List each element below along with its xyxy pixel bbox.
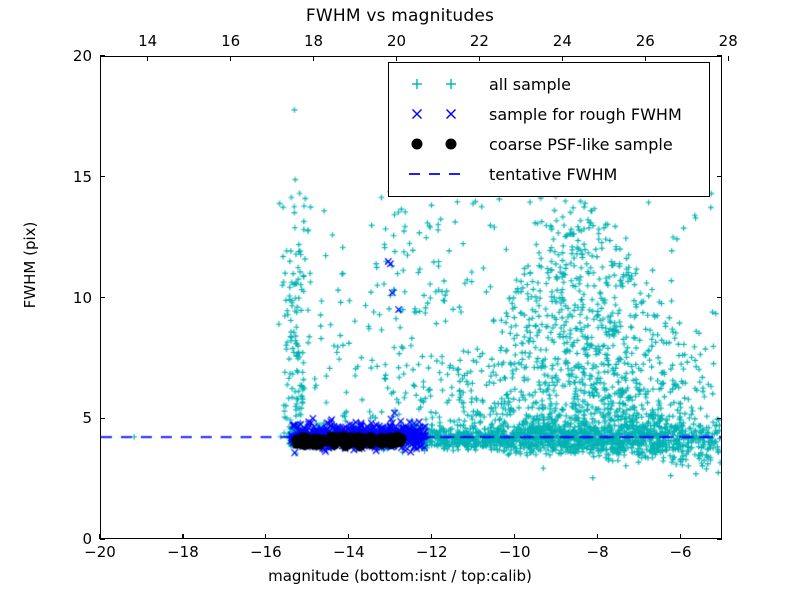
legend-entry-2: coarse PSF-like sample — [399, 129, 699, 159]
x-axis-tick-label-bottom: −12 — [416, 543, 448, 561]
y-axis-tick-label: 5 — [82, 409, 92, 427]
x-axis-tick-label-top: 28 — [719, 32, 738, 50]
legend-marker-cross-icon — [399, 99, 485, 129]
x-axis-tick-bottom — [348, 534, 349, 539]
chart-title: FWHM vs magnitudes — [0, 6, 800, 26]
x-axis-tick-label-top: 16 — [221, 32, 240, 50]
x-axis-tick-label-bottom: −10 — [499, 543, 531, 561]
x-axis-tick-top — [562, 56, 563, 61]
y-axis-tick-right — [717, 55, 722, 56]
legend-marker-plus-icon — [399, 69, 485, 99]
x-axis-tick-bottom — [597, 534, 598, 539]
x-axis-tick-bottom — [182, 534, 183, 539]
legend-label: tentative FWHM — [485, 165, 617, 184]
y-axis-tick-right — [717, 538, 722, 539]
legend-entry-3: tentative FWHM — [399, 159, 699, 189]
legend-label: coarse PSF-like sample — [485, 135, 673, 154]
x-axis-tick-label-bottom: −18 — [167, 543, 199, 561]
x-axis-tick-label-bottom: −16 — [250, 543, 282, 561]
x-axis-tick-bottom — [431, 534, 432, 539]
x-axis-tick-bottom — [680, 534, 681, 539]
x-axis-tick-label-bottom: −14 — [333, 543, 365, 561]
legend-marker-circle-icon — [399, 129, 485, 159]
x-axis-tick-top — [479, 56, 480, 61]
x-axis-tick-bottom — [265, 534, 266, 539]
x-axis-tick-label-top: 22 — [470, 32, 489, 50]
y-axis-label: FWHM (pix) — [21, 85, 39, 445]
x-axis-tick-label-top: 14 — [138, 32, 157, 50]
y-axis-tick — [100, 297, 105, 298]
y-axis-tick-label: 20 — [73, 47, 92, 65]
figure-canvas: FWHM vs magnitudes −20−18−16−14−12−10−8−… — [0, 0, 800, 600]
y-axis-tick-right — [717, 297, 722, 298]
x-axis-tick-top — [147, 56, 148, 61]
y-axis-tick — [100, 55, 105, 56]
y-axis-tick — [100, 176, 105, 177]
legend-entry-0: all sample — [399, 69, 699, 99]
x-axis-tick-top — [396, 56, 397, 61]
x-axis-tick-bottom — [514, 534, 515, 539]
x-axis-tick-label-top: 20 — [387, 32, 406, 50]
y-axis-tick-label: 0 — [82, 530, 92, 548]
y-axis-tick-label: 10 — [73, 289, 92, 307]
x-axis-tick-label-bottom: −6 — [669, 543, 691, 561]
x-axis-tick-label-bottom: −8 — [587, 543, 609, 561]
chart-legend: all samplesample for rough FWHMcoarse PS… — [388, 62, 710, 197]
legend-marker-dashed-icon — [399, 159, 485, 189]
x-axis-tick-top — [313, 56, 314, 61]
x-axis-tick-top — [645, 56, 646, 61]
x-axis-tick-top — [728, 56, 729, 61]
x-axis-tick-label-top: 24 — [553, 32, 572, 50]
legend-label: sample for rough FWHM — [485, 105, 682, 124]
y-axis-tick-right — [717, 418, 722, 419]
y-axis-tick — [100, 538, 105, 539]
x-axis-tick-top — [230, 56, 231, 61]
x-axis-tick-label-top: 26 — [636, 32, 655, 50]
y-axis-tick-right — [717, 176, 722, 177]
y-axis-tick-label: 15 — [73, 168, 92, 186]
y-axis-tick — [100, 418, 105, 419]
legend-entry-1: sample for rough FWHM — [399, 99, 699, 129]
legend-label: all sample — [485, 75, 571, 94]
x-axis-label: magnitude (bottom:isnt / top:calib) — [0, 567, 800, 585]
x-axis-tick-label-top: 18 — [304, 32, 323, 50]
